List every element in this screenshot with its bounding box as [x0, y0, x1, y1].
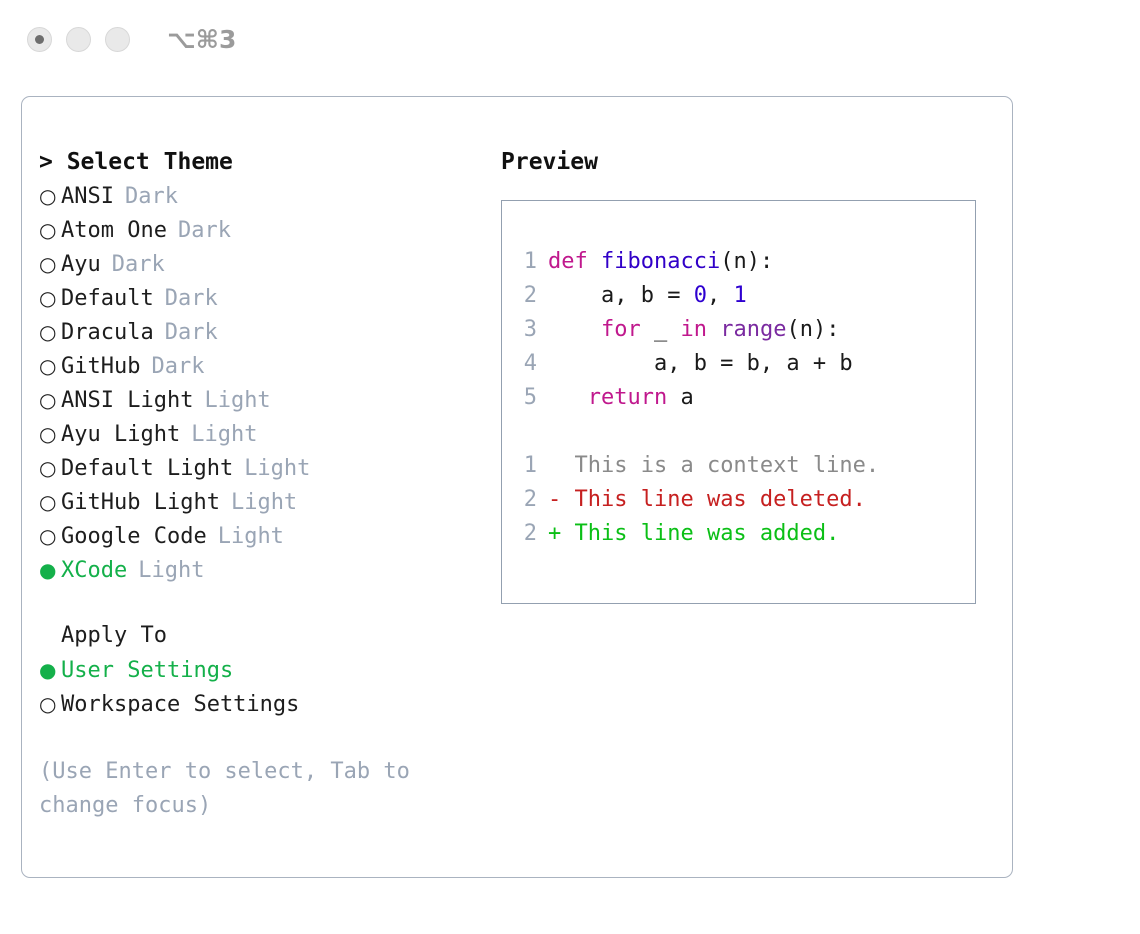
code-line-content: return a: [548, 381, 694, 415]
preview-code-box: 1def fibonacci(n):2 a, b = 0, 13 for _ i…: [501, 200, 976, 604]
theme-name: Atom One: [61, 214, 167, 248]
diff-line: 2- This line was deleted.: [502, 483, 975, 517]
theme-name: ANSI: [61, 180, 114, 214]
code-token: (n):: [786, 317, 839, 342]
code-line-number: 5: [502, 381, 548, 415]
code-token: _: [641, 317, 681, 342]
apply-to-option[interactable]: ●User Settings: [39, 653, 479, 687]
keyboard-shortcut-label: ⌥⌘3: [167, 25, 236, 54]
apply-to-option-label: Workspace Settings: [61, 688, 299, 722]
code-line-content: a, b = 0, 1: [548, 279, 747, 313]
diff-marker: -: [548, 483, 561, 517]
keyboard-hint-text: (Use Enter to select, Tab to change focu…: [39, 755, 439, 823]
radio-unselected-icon[interactable]: ○: [39, 349, 61, 383]
radio-unselected-icon[interactable]: ○: [39, 247, 61, 281]
window-dot-third[interactable]: [105, 27, 130, 52]
code-line: 3 for _ in range(n):: [502, 313, 975, 347]
code-token: 0: [694, 283, 707, 308]
diff-marker: +: [548, 517, 561, 551]
code-token: a: [667, 385, 694, 410]
code-token: def: [548, 249, 601, 274]
theme-category-tag: Light: [138, 554, 204, 588]
theme-list[interactable]: ○ANSIDark○Atom OneDark○AyuDark○DefaultDa…: [39, 179, 479, 587]
theme-category-tag: Dark: [178, 214, 231, 248]
radio-unselected-icon[interactable]: ○: [39, 687, 61, 721]
theme-list-item[interactable]: ○ANSIDark: [39, 179, 479, 213]
theme-list-item[interactable]: ○DefaultDark: [39, 281, 479, 315]
code-token: [707, 317, 720, 342]
theme-list-item[interactable]: ○Ayu LightLight: [39, 417, 479, 451]
code-token: for: [601, 317, 641, 342]
theme-category-tag: Dark: [112, 248, 165, 282]
code-token: 1: [733, 283, 746, 308]
radio-unselected-icon[interactable]: ○: [39, 417, 61, 451]
preview-header: Preview: [501, 145, 991, 179]
code-token: fibonacci: [601, 249, 720, 274]
radio-unselected-icon[interactable]: ○: [39, 315, 61, 349]
diff-line: 1 This is a context line.: [502, 449, 975, 483]
radio-unselected-icon[interactable]: ○: [39, 213, 61, 247]
apply-to-header: Apply To: [61, 619, 479, 653]
diff-line-number: 1: [502, 449, 548, 483]
diff-line-number: 2: [502, 517, 548, 551]
code-token: [548, 385, 588, 410]
code-sample: 1def fibonacci(n):2 a, b = 0, 13 for _ i…: [502, 245, 975, 415]
theme-apply-spacer: [39, 587, 479, 619]
theme-list-item[interactable]: ○ANSI LightLight: [39, 383, 479, 417]
window-dot-active[interactable]: [27, 27, 52, 52]
window-controls: [27, 27, 130, 52]
theme-name: Default Light: [61, 452, 233, 486]
theme-name: Google Code: [61, 520, 207, 554]
theme-category-tag: Light: [191, 418, 257, 452]
code-line: 1def fibonacci(n):: [502, 245, 975, 279]
apply-to-list[interactable]: ●User Settings○Workspace Settings: [39, 653, 479, 721]
theme-list-item[interactable]: ●XCodeLight: [39, 553, 479, 587]
code-token: ,: [707, 283, 734, 308]
diff-line-content: This line was added.: [561, 517, 839, 551]
code-token: a, b =: [548, 283, 694, 308]
code-token: (n):: [720, 249, 773, 274]
code-line-content: for _ in range(n):: [548, 313, 839, 347]
code-line-content: def fibonacci(n):: [548, 245, 773, 279]
code-line: 2 a, b = 0, 1: [502, 279, 975, 313]
diff-line-content: This is a context line.: [561, 449, 879, 483]
theme-name: XCode: [61, 554, 127, 588]
diff-marker: [548, 449, 561, 483]
theme-selection-column: > Select Theme ○ANSIDark○Atom OneDark○Ay…: [39, 145, 479, 823]
window-titlebar: ⌥⌘3: [0, 0, 1140, 78]
code-line: 4 a, b = b, a + b: [502, 347, 975, 381]
code-line-number: 2: [502, 279, 548, 313]
radio-unselected-icon[interactable]: ○: [39, 485, 61, 519]
theme-list-item[interactable]: ○Default LightLight: [39, 451, 479, 485]
code-diff-separator: [502, 415, 975, 449]
radio-unselected-icon[interactable]: ○: [39, 519, 61, 553]
theme-name: GitHub: [61, 350, 140, 384]
code-token: range: [720, 317, 786, 342]
theme-list-item[interactable]: ○GitHubDark: [39, 349, 479, 383]
preview-column: Preview 1def fibonacci(n):2 a, b = 0, 13…: [501, 145, 991, 604]
theme-category-tag: Dark: [165, 282, 218, 316]
diff-line-number: 2: [502, 483, 548, 517]
theme-list-item[interactable]: ○Atom OneDark: [39, 213, 479, 247]
theme-category-tag: Light: [231, 486, 297, 520]
theme-name: Default: [61, 282, 154, 316]
theme-picker-panel: > Select Theme ○ANSIDark○Atom OneDark○Ay…: [21, 96, 1013, 878]
window-dot-active-indicator: [35, 35, 44, 44]
window-dot-second[interactable]: [66, 27, 91, 52]
theme-category-tag: Dark: [125, 180, 178, 214]
theme-name: ANSI Light: [61, 384, 193, 418]
code-token: [548, 317, 601, 342]
code-token: in: [680, 317, 707, 342]
theme-name: GitHub Light: [61, 486, 220, 520]
theme-category-tag: Dark: [165, 316, 218, 350]
theme-list-item[interactable]: ○AyuDark: [39, 247, 479, 281]
diff-line-content: This line was deleted.: [561, 483, 866, 517]
apply-to-option-label: User Settings: [61, 654, 233, 688]
diff-sample: 1 This is a context line.2- This line wa…: [502, 449, 975, 551]
theme-name: Ayu Light: [61, 418, 180, 452]
theme-name: Ayu: [61, 248, 101, 282]
code-token: return: [588, 385, 667, 410]
select-theme-header: > Select Theme: [39, 145, 479, 179]
code-line-number: 1: [502, 245, 548, 279]
radio-selected-icon[interactable]: ●: [39, 653, 61, 687]
theme-list-item[interactable]: ○GitHub LightLight: [39, 485, 479, 519]
theme-list-item[interactable]: ○Google CodeLight: [39, 519, 479, 553]
code-line-content: a, b = b, a + b: [548, 347, 853, 381]
theme-category-tag: Dark: [151, 350, 204, 384]
radio-unselected-icon[interactable]: ○: [39, 179, 61, 213]
radio-unselected-icon[interactable]: ○: [39, 383, 61, 417]
apply-to-option[interactable]: ○Workspace Settings: [39, 687, 479, 721]
diff-line: 2+ This line was added.: [502, 517, 975, 551]
theme-list-item[interactable]: ○DraculaDark: [39, 315, 479, 349]
theme-name: Dracula: [61, 316, 154, 350]
theme-category-tag: Light: [244, 452, 310, 486]
code-line-number: 3: [502, 313, 548, 347]
radio-selected-icon[interactable]: ●: [39, 553, 61, 587]
code-line-number: 4: [502, 347, 548, 381]
radio-unselected-icon[interactable]: ○: [39, 281, 61, 315]
theme-category-tag: Light: [218, 520, 284, 554]
code-line: 5 return a: [502, 381, 975, 415]
code-token: a, b = b, a + b: [548, 351, 853, 376]
theme-category-tag: Light: [204, 384, 270, 418]
radio-unselected-icon[interactable]: ○: [39, 451, 61, 485]
